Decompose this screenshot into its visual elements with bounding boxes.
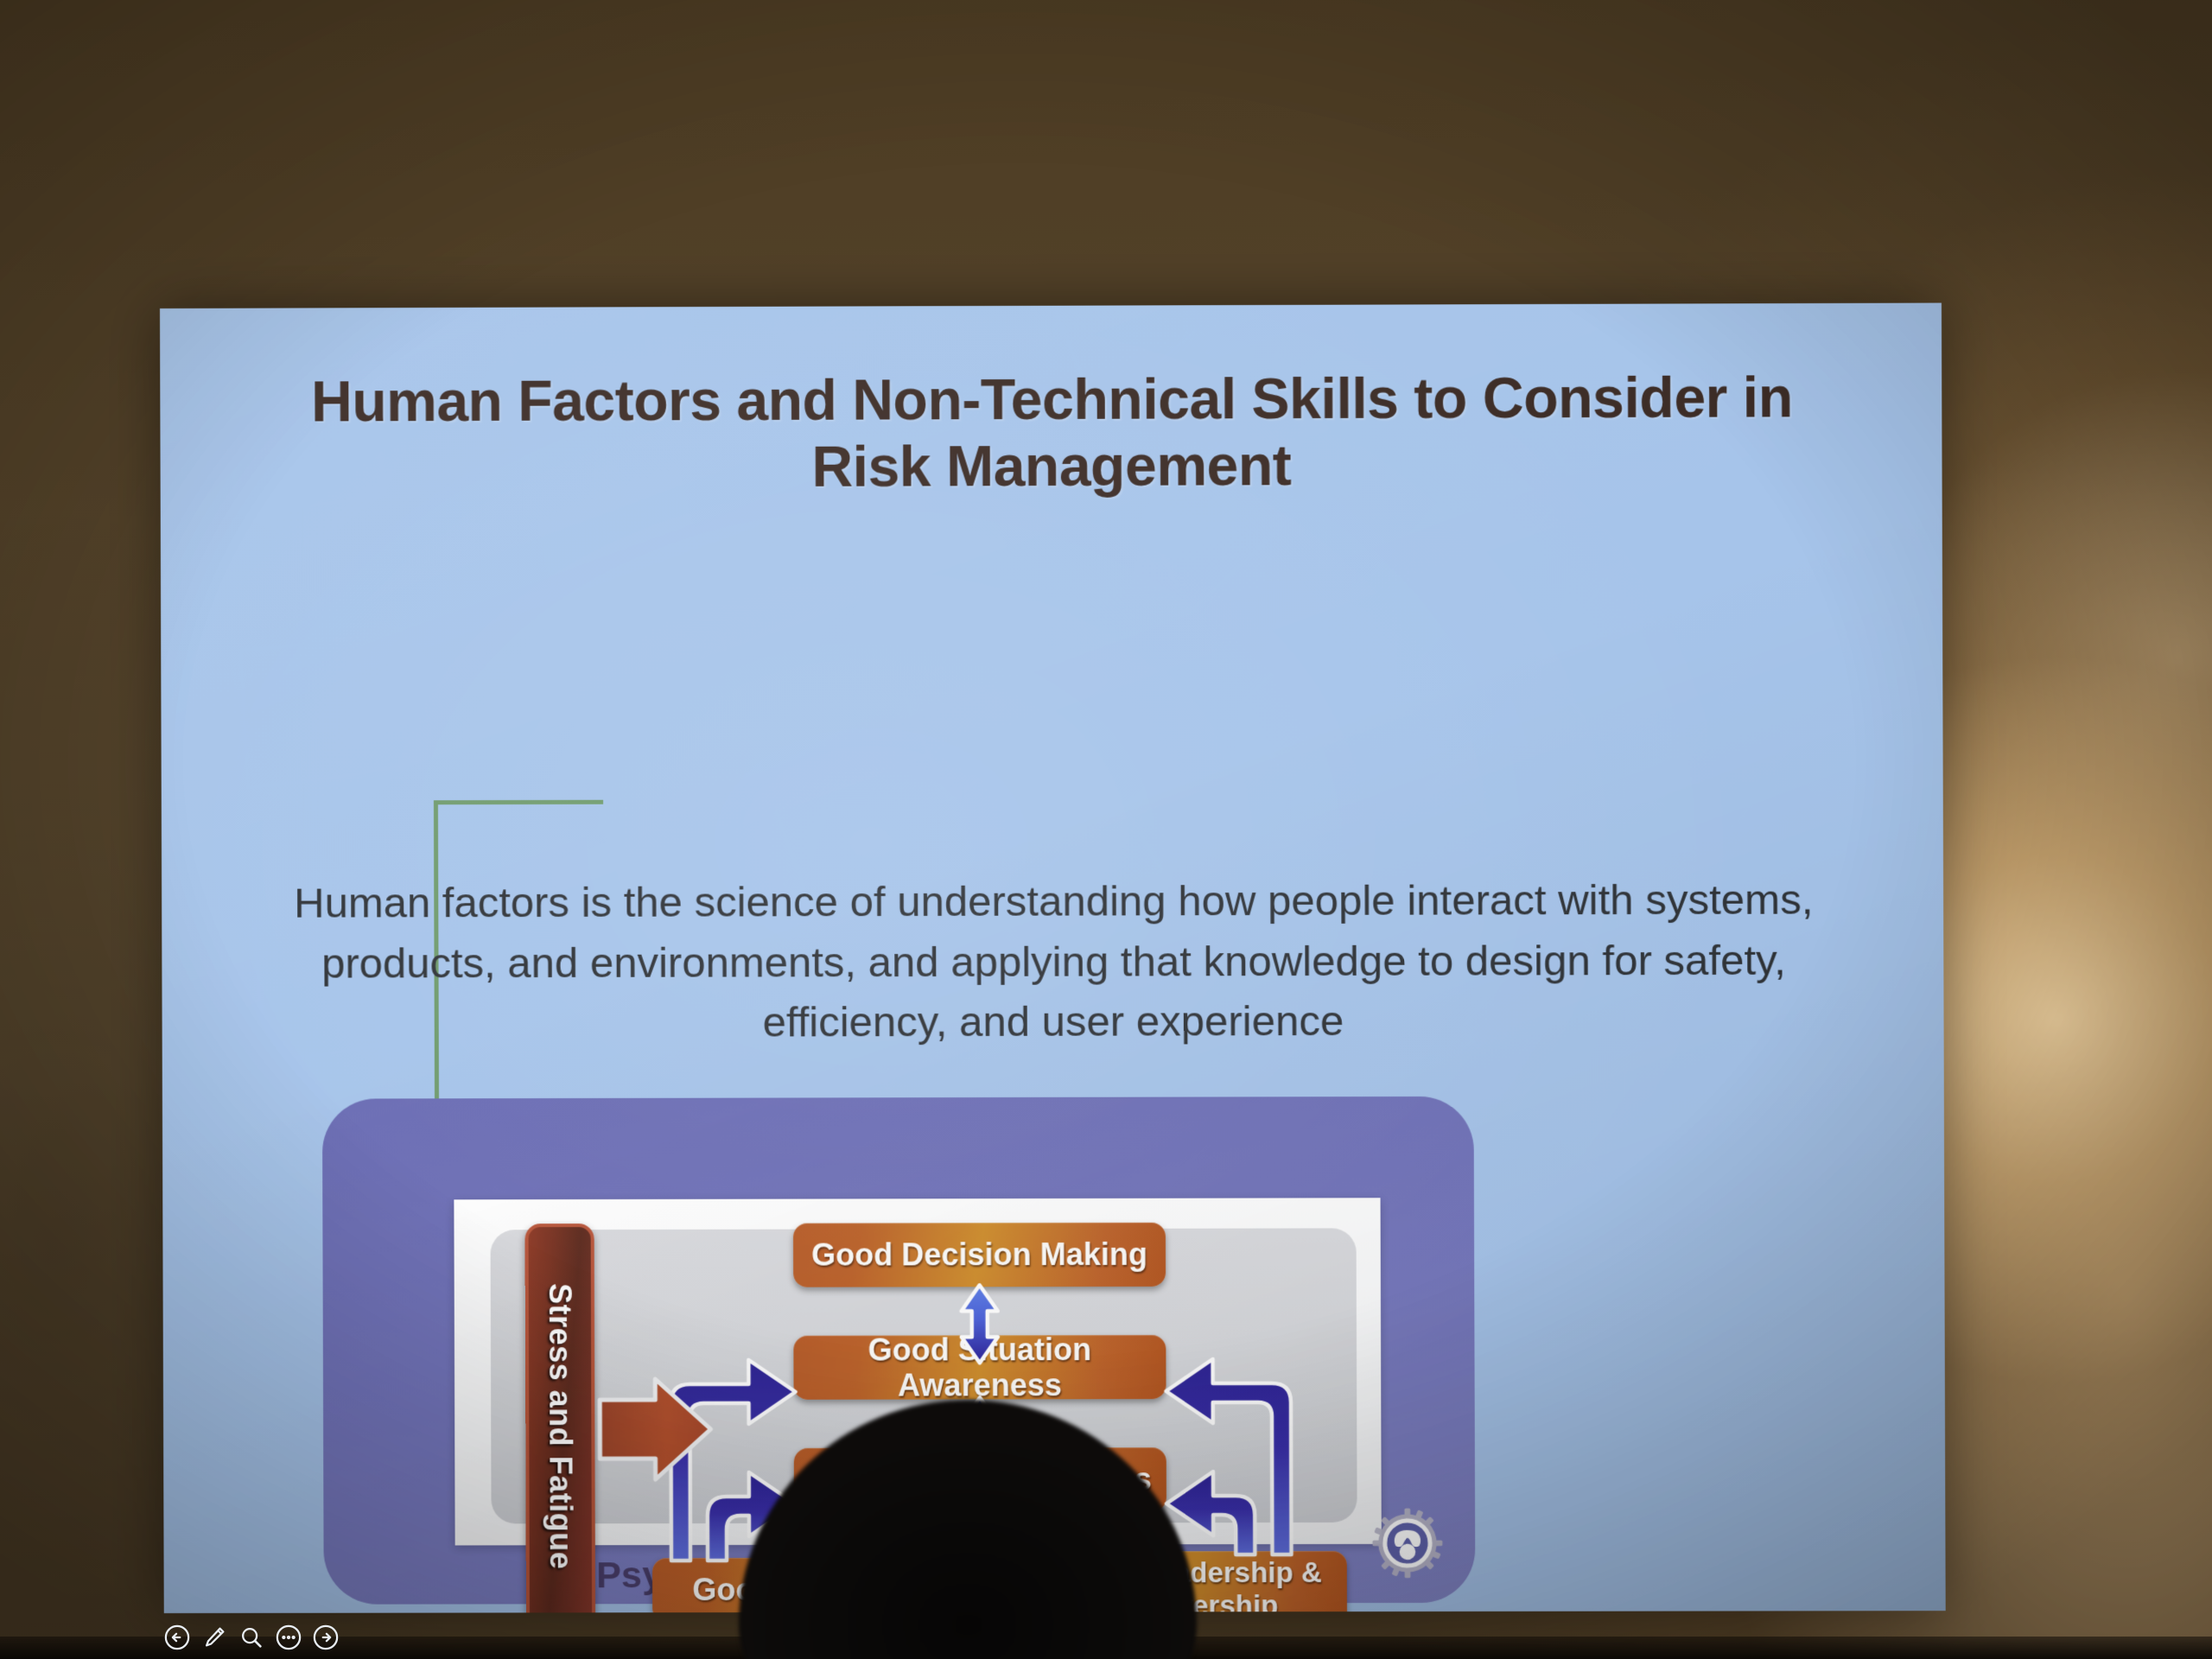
slide-body-text: Human factors is the science of understa… (239, 870, 1868, 1054)
gear-logo-icon (1371, 1507, 1445, 1580)
previous-slide-icon[interactable] (164, 1624, 190, 1650)
slide-title: Human Factors and Non-Technical Skills t… (272, 364, 1832, 502)
stress-and-fatigue-label: Stress and Fatigue (542, 1284, 579, 1570)
next-slide-icon[interactable] (313, 1624, 339, 1650)
diagram-box-good-situation-awareness[interactable]: Good Situation Awareness (793, 1335, 1166, 1400)
search-icon[interactable] (238, 1624, 264, 1650)
more-options-icon[interactable] (276, 1624, 302, 1650)
pen-icon[interactable] (201, 1624, 227, 1650)
presentation-toolbar[interactable] (164, 1624, 339, 1650)
diagram-box-good-decision-making[interactable]: Good Decision Making (793, 1223, 1166, 1287)
diagram-box-stress-and-fatigue[interactable]: Stress and Fatigue (525, 1224, 596, 1613)
